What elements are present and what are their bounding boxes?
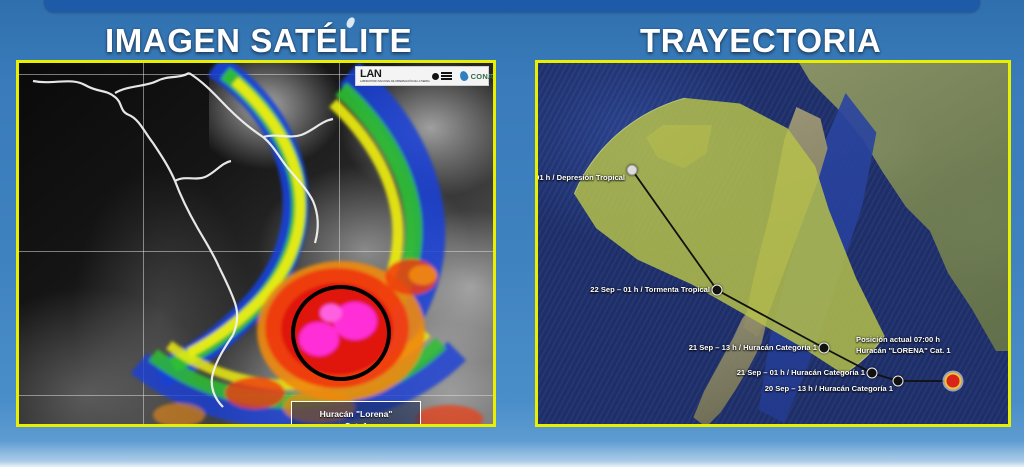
current-position-marker[interactable]	[945, 373, 962, 390]
forecast-label-23sep: 23 Sep – 01 h / Depresión Tropical	[538, 174, 632, 182]
hurricane-callout-category: Cat. 1	[344, 420, 367, 424]
conagua-logo: CONAGUA	[460, 71, 493, 81]
page-title-satellite: IMAGEN SATÉLITE	[105, 22, 412, 60]
top-accent-bar	[44, 0, 980, 12]
lan-subtitle: LABORATORIO NACIONAL DE OBSERVACIÓN DE L…	[360, 80, 430, 83]
hurricane-callout-name: Huracán "Lorena"	[320, 408, 393, 420]
bottom-light-sheen	[0, 441, 1024, 467]
trajectory-map: 23 Sep – 01 h / Depresión Tropical 22 Se…	[538, 63, 1008, 424]
hurricane-eye-circle	[291, 285, 391, 381]
lan-wordmark: LAN	[360, 69, 430, 80]
coastline-overlay	[19, 63, 493, 424]
satellite-image-panel: LAN LABORATORIO NACIONAL DE OBSERVACIÓN …	[16, 60, 496, 427]
trajectory-map-panel: 23 Sep – 01 h / Depresión Tropical 22 Se…	[535, 60, 1011, 427]
page-title-trajectory: TRAYECTORIA	[640, 22, 881, 60]
forecast-label-21sep-01h: 21 Sep – 01 h / Huracán Categoría 1	[737, 369, 872, 377]
forecast-label-20sep-13h: 20 Sep – 13 h / Huracán Categoría 1	[765, 385, 900, 393]
current-position-label: Posición actual 07:00 h Huracán "LORENA"…	[856, 334, 951, 356]
forecast-label-21sep-13h: 21 Sep – 13 h / Huracán Categoría 1	[689, 344, 824, 352]
forecast-label-22sep: 22 Sep – 01 h / Tormenta Tropical	[590, 286, 717, 294]
current-position-line2: Huracán "LORENA" Cat. 1	[856, 345, 951, 356]
water-drop-icon	[458, 70, 469, 82]
conagua-wordmark: CONAGUA	[471, 72, 493, 81]
satellite-image: LAN LABORATORIO NACIONAL DE OBSERVACIÓN …	[19, 63, 493, 424]
logo-strip: LAN LABORATORIO NACIONAL DE OBSERVACIÓN …	[355, 66, 489, 86]
lan-dot-icon	[432, 73, 439, 80]
lan-logo: LAN LABORATORIO NACIONAL DE OBSERVACIÓN …	[360, 69, 452, 83]
lan-bars-icon	[441, 72, 452, 80]
hurricane-callout-box: Huracán "Lorena" Cat. 1	[291, 401, 421, 424]
current-position-line1: Posición actual 07:00 h	[856, 334, 951, 345]
